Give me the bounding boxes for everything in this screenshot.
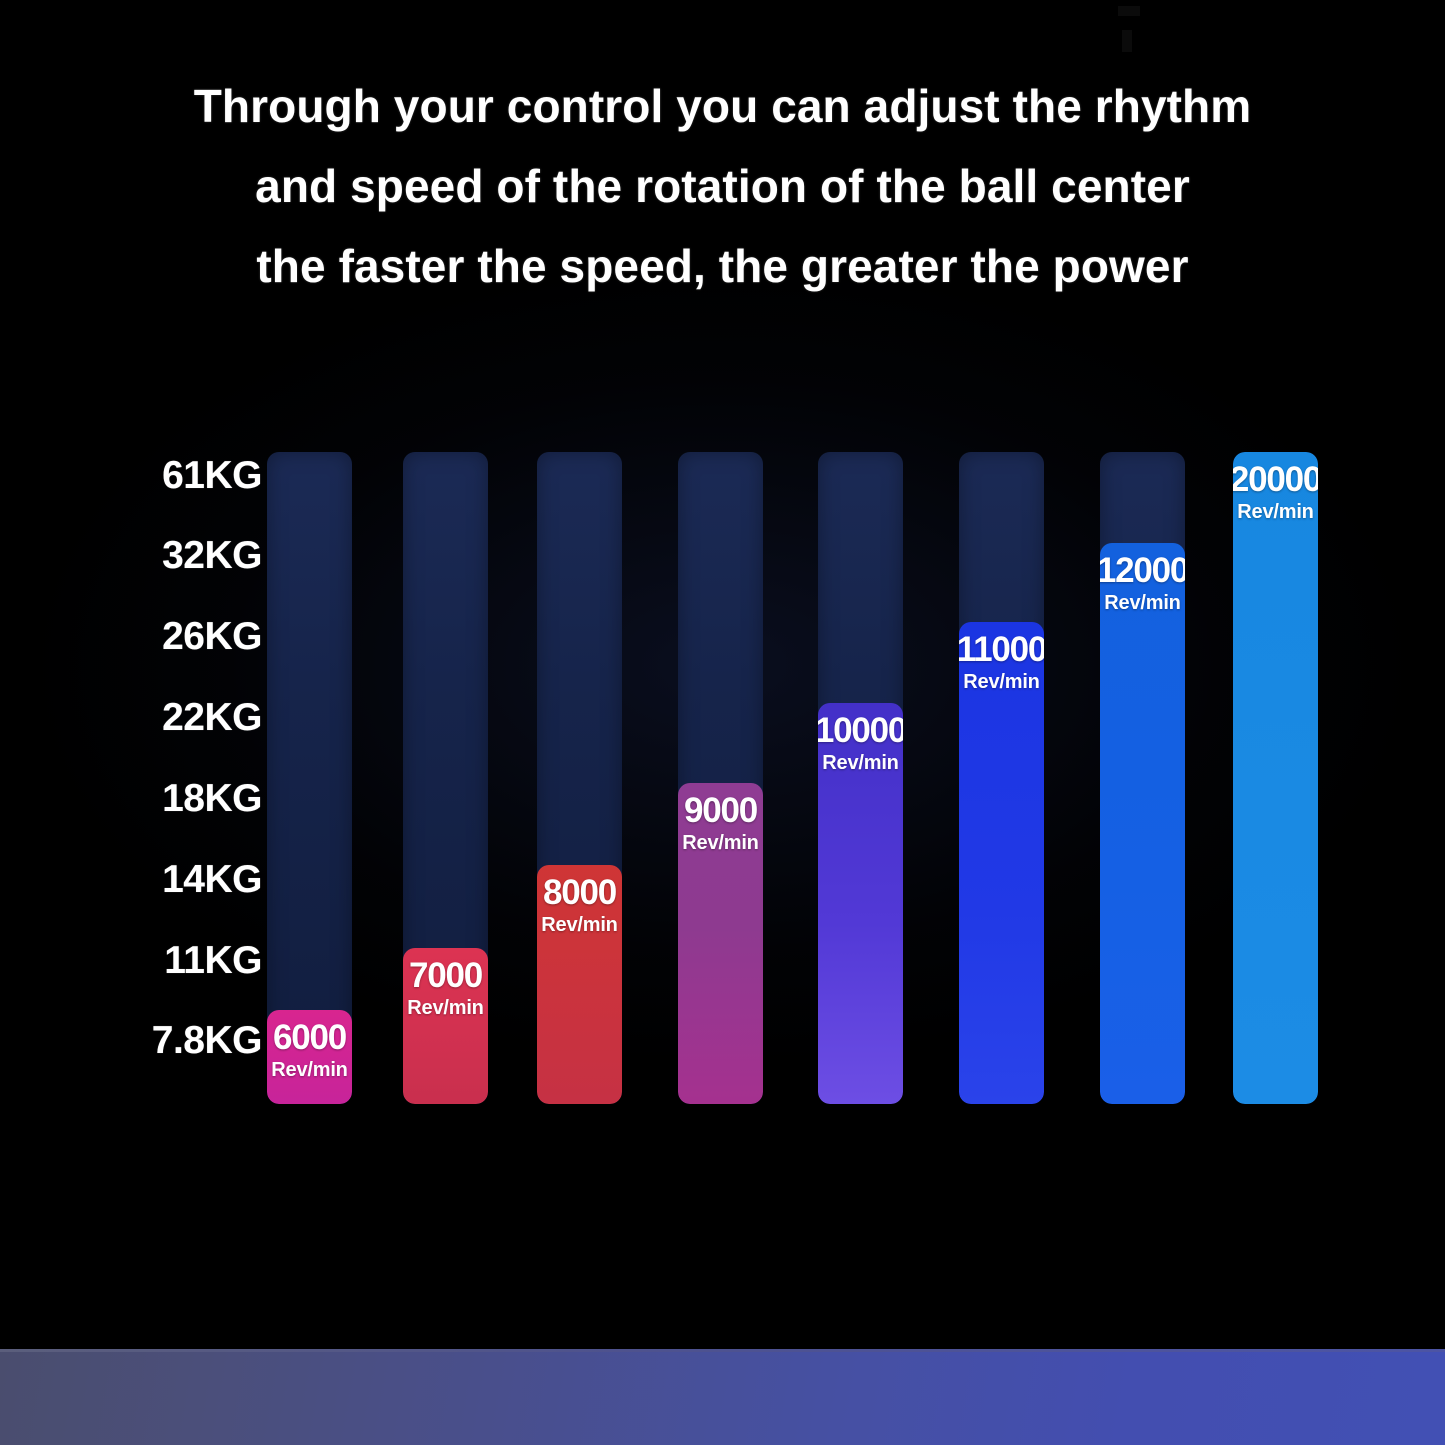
- bar-fill-10000: 10000 Rev/min: [818, 703, 903, 1104]
- bar-value-label: 11000: [959, 630, 1044, 670]
- bar-track: 10000 Rev/min: [818, 452, 903, 1104]
- surface-band: [0, 1352, 1445, 1445]
- bar-track: 20000 Rev/min: [1233, 452, 1318, 1104]
- y-tick-label: 11KG: [110, 939, 262, 983]
- torque-speed-bar-chart: 61KG 32KG 26KG 22KG 18KG 14KG 11KG 7.8KG…: [0, 0, 1445, 1445]
- y-tick-label: 26KG: [110, 615, 262, 659]
- bar-value-label: 12000: [1100, 551, 1185, 591]
- bar-track: 6000 Rev/min: [267, 452, 352, 1104]
- bar-fill-11000: 11000 Rev/min: [959, 622, 1044, 1104]
- bar-unit-label: Rev/min: [1237, 500, 1313, 524]
- bar-unit-label: Rev/min: [822, 751, 898, 775]
- y-tick-label: 7.8KG: [110, 1019, 262, 1063]
- bar-unit-label: Rev/min: [541, 913, 617, 937]
- bar-unit-label: Rev/min: [963, 670, 1039, 694]
- bar-fill-9000: 9000 Rev/min: [678, 783, 763, 1104]
- bar-fill-12000: 12000 Rev/min: [1100, 543, 1185, 1104]
- y-tick-label: 14KG: [110, 858, 262, 902]
- y-axis-labels: 61KG 32KG 26KG 22KG 18KG 14KG 11KG 7.8KG: [110, 452, 262, 1104]
- bar-track: 7000 Rev/min: [403, 452, 488, 1104]
- y-tick-label: 22KG: [110, 696, 262, 740]
- bar-track: 12000 Rev/min: [1100, 452, 1185, 1104]
- bar-fill-6000: 6000 Rev/min: [267, 1010, 352, 1104]
- bar-value-label: 8000: [543, 873, 616, 913]
- bar-track: 9000 Rev/min: [678, 452, 763, 1104]
- bar-value-label: 20000: [1233, 460, 1318, 500]
- bar-fill-8000: 8000 Rev/min: [537, 865, 622, 1104]
- y-tick-label: 18KG: [110, 777, 262, 821]
- y-tick-label: 61KG: [110, 454, 262, 498]
- bar-value-label: 7000: [409, 956, 482, 996]
- bar-value-label: 9000: [684, 791, 757, 831]
- bar-unit-label: Rev/min: [271, 1058, 347, 1082]
- bar-unit-label: Rev/min: [407, 996, 483, 1020]
- y-tick-label: 32KG: [110, 534, 262, 578]
- bar-track: 11000 Rev/min: [959, 452, 1044, 1104]
- bar-track: 8000 Rev/min: [537, 452, 622, 1104]
- bar-value-label: 10000: [818, 711, 903, 751]
- bar-value-label: 6000: [273, 1018, 346, 1058]
- bar-fill-20000: 20000 Rev/min: [1233, 452, 1318, 1104]
- bar-unit-label: Rev/min: [682, 831, 758, 855]
- bar-fill-7000: 7000 Rev/min: [403, 948, 488, 1104]
- bar-unit-label: Rev/min: [1104, 591, 1180, 615]
- poster-stage: Through your control you can adjust the …: [0, 0, 1445, 1445]
